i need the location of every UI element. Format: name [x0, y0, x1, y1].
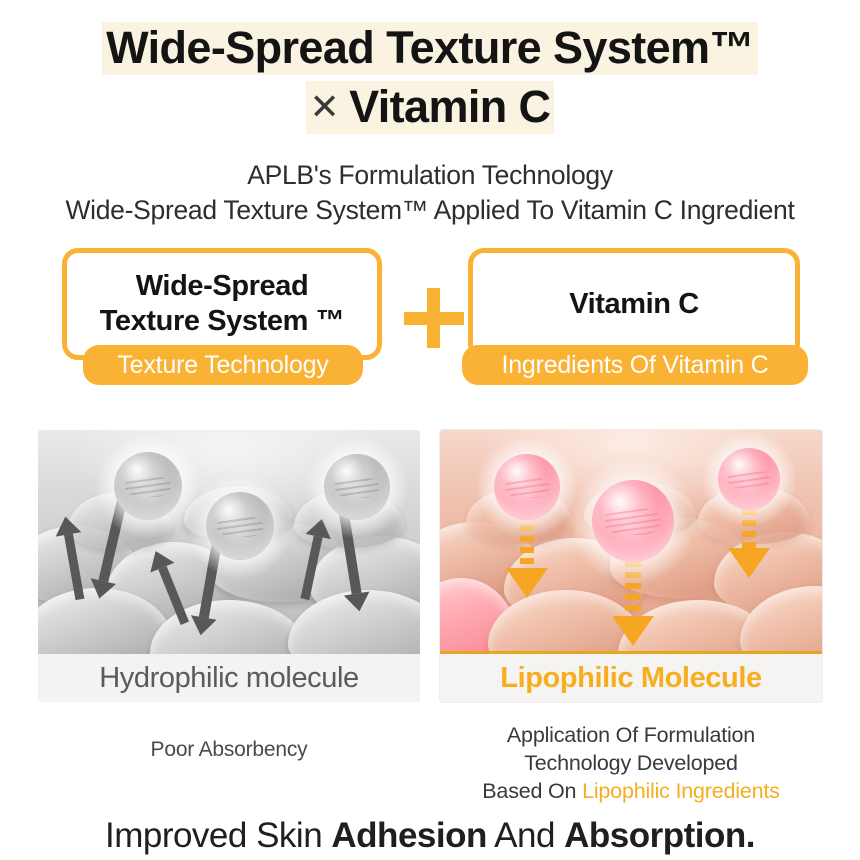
- texture-system-line-1: Wide-Spread: [136, 270, 309, 302]
- note-poor-absorbency: Poor Absorbency: [38, 738, 420, 762]
- note-right-line-3-prefix: Based On: [482, 779, 582, 803]
- concept-box-vitamin-c-title: Vitamin C: [569, 287, 699, 322]
- concept-row: Wide-Spread Texture System ™ Texture Tec…: [0, 248, 860, 408]
- footer-part-1: Improved Skin: [105, 816, 331, 855]
- caption-lipophilic: Lipophilic Molecule: [440, 651, 822, 702]
- title-line-2: ✕Vitamin C: [0, 81, 860, 134]
- badge-ingredients-of-vitamin-c: Ingredients Of Vitamin C: [462, 345, 808, 385]
- molecule-gray-3: [324, 454, 390, 520]
- concept-box-texture-system: Wide-Spread Texture System ™: [62, 248, 382, 360]
- title-line-1: Wide-Spread Texture System™: [0, 22, 860, 75]
- note-lipophilic-application: Application Of Formulation Technology De…: [440, 722, 822, 805]
- molecule-gray-2: [206, 492, 274, 560]
- panel-lipophilic: Lipophilic Molecule: [440, 430, 822, 702]
- caption-hydrophilic-text: Hydrophilic molecule: [99, 662, 359, 695]
- subtitle: APLB's Formulation Technology Wide-Sprea…: [0, 158, 860, 228]
- lipophilic-illustration: [440, 430, 822, 654]
- multiply-icon: ✕: [310, 86, 350, 127]
- note-right-line-1: Application Of Formulation: [507, 723, 755, 747]
- concept-box-texture-system-title: Wide-Spread Texture System ™: [100, 269, 345, 340]
- caption-lipophilic-text: Lipophilic Molecule: [500, 662, 761, 695]
- title-line-2-wrap: ✕Vitamin C: [306, 81, 555, 134]
- caption-hydrophilic: Hydrophilic molecule: [38, 654, 420, 702]
- subtitle-line-2: Wide-Spread Texture System™ Applied To V…: [0, 193, 860, 228]
- footer-part-2: And: [487, 816, 564, 855]
- hydrophilic-illustration: [38, 430, 420, 654]
- title-line-1-text: Wide-Spread Texture System™: [102, 22, 758, 75]
- molecule-pink-3: [718, 448, 780, 510]
- plus-icon: [404, 288, 464, 348]
- note-right-line-2: Technology Developed: [524, 751, 738, 775]
- molecule-pink-1: [494, 454, 560, 520]
- texture-system-line-2: Texture System ™: [100, 305, 345, 337]
- subtitle-line-1: APLB's Formulation Technology: [0, 158, 860, 193]
- molecule-gray-1: [114, 452, 182, 520]
- footer-tagline: Improved Skin Adhesion And Absorption.: [0, 816, 860, 856]
- footer-bold-adhesion: Adhesion: [331, 816, 486, 855]
- comparison-panels: Hydrophilic molecule: [0, 430, 860, 710]
- note-right-line-3-highlight: Lipophilic Ingredients: [582, 779, 780, 803]
- panel-hydrophilic: Hydrophilic molecule: [38, 430, 420, 702]
- page-title: Wide-Spread Texture System™ ✕Vitamin C: [0, 0, 860, 134]
- badge-texture-technology: Texture Technology: [83, 345, 363, 385]
- molecule-pink-2: [592, 480, 674, 562]
- concept-box-vitamin-c: Vitamin C: [468, 248, 800, 360]
- footer-bold-absorption: Absorption.: [564, 816, 755, 855]
- title-line-2-text: Vitamin C: [349, 81, 550, 132]
- panel-notes: Poor Absorbency Application Of Formulati…: [0, 722, 860, 818]
